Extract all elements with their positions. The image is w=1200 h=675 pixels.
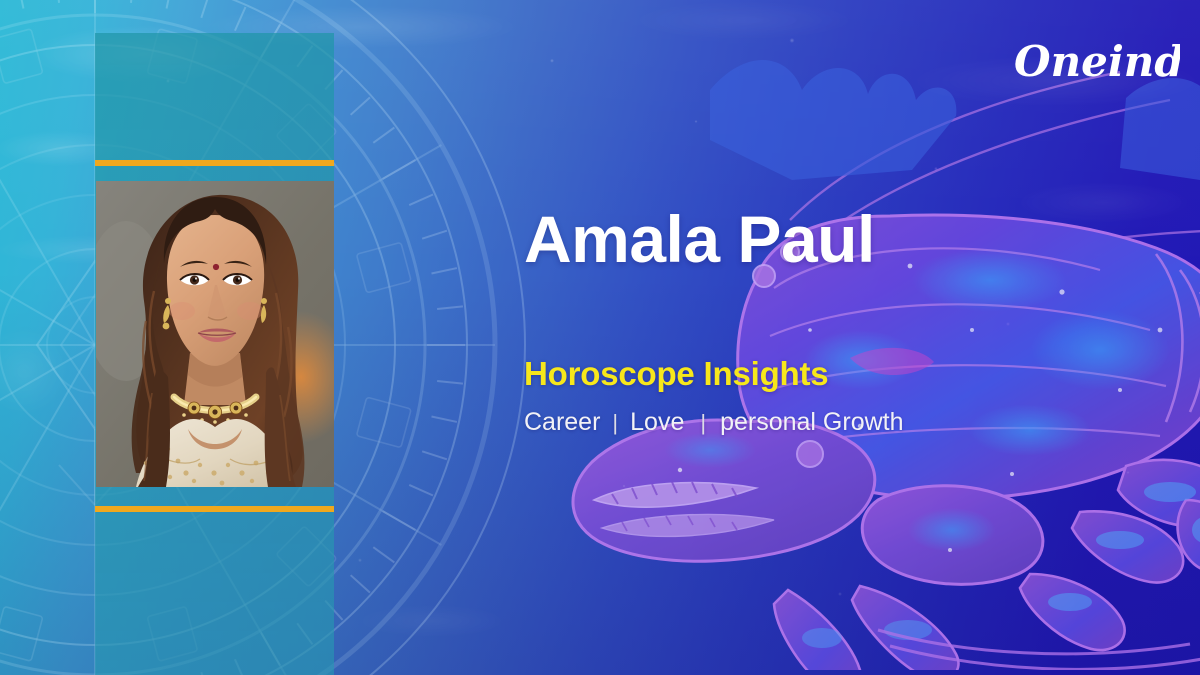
tagline-separator-1: | <box>600 410 630 436</box>
tagline: Career | Love | personal Growth <box>524 408 904 437</box>
page-title: Amala Paul <box>524 205 875 274</box>
tagline-item-love: Love <box>630 408 684 437</box>
subtitle: Horoscope Insights <box>524 355 828 393</box>
tagline-separator-2: | <box>684 410 720 436</box>
poster-canvas: Amala Paul Horoscope Insights Career | L… <box>0 0 1200 675</box>
portrait-accent-bar-top <box>95 160 334 166</box>
tagline-item-career: Career <box>524 408 600 437</box>
oneindia-logo[interactable]: Oneindia <box>1012 28 1180 94</box>
tagline-item-personal-growth: personal Growth <box>720 408 903 437</box>
oneindia-logo-text: Oneindia <box>1014 37 1180 86</box>
celebrity-portrait-photo <box>96 181 334 487</box>
portrait-accent-bar-bottom <box>95 506 334 512</box>
